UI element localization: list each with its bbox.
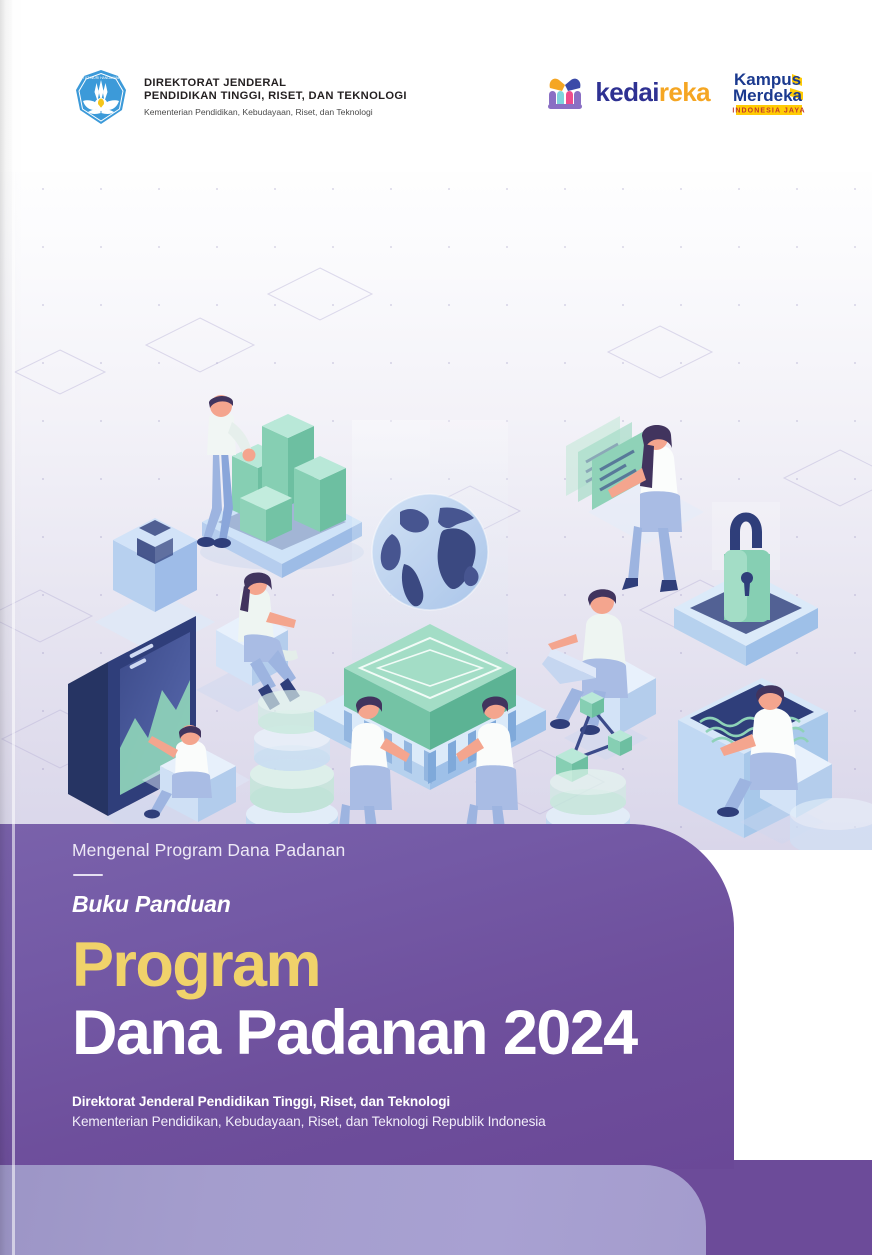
cover-illustration xyxy=(0,150,872,850)
kedaireka-house-icon xyxy=(544,73,586,111)
tut-wuri-motto: TUT WURI HANDAYANI xyxy=(83,76,120,80)
cover-header: TUT WURI HANDAYANI DIREKTORAT JENDERAL P… xyxy=(0,0,872,172)
ministry-line2: PENDIDIKAN TINGGI, RISET, DAN TEKNOLOGI xyxy=(144,90,407,103)
kedaireka-word-part2: reka xyxy=(659,77,710,107)
kedaireka-wordmark: kedaireka xyxy=(595,79,710,105)
ministry-logo-text: DIREKTORAT JENDERAL PENDIDIKAN TINGGI, R… xyxy=(144,77,407,117)
cover-ministry: Kementerian Pendidikan, Kebudayaan, Rise… xyxy=(72,1114,710,1129)
cover-organization: Direktorat Jenderal Pendidikan Tinggi, R… xyxy=(72,1094,710,1109)
illus-isometric-cube xyxy=(95,518,215,654)
bottom-accent-bar xyxy=(0,1165,706,1255)
illus-man-with-laptop xyxy=(542,589,656,760)
kedaireka-logo: kedaireka xyxy=(544,73,710,111)
cover-subtitle: Buku Panduan xyxy=(72,891,710,919)
tut-wuri-handayani-logo: TUT WURI HANDAYANI xyxy=(72,68,130,126)
ministry-line1: DIREKTORAT JENDERAL xyxy=(144,77,407,90)
title-panel: Mengenal Program Dana Padanan Buku Pandu… xyxy=(0,824,734,1169)
cover-title-line1: Program xyxy=(72,933,710,997)
cover-title-line2: Dana Padanan 2024 xyxy=(72,1001,710,1065)
cover-kicker: Mengenal Program Dana Padanan xyxy=(72,840,710,862)
title-divider-rule xyxy=(73,874,103,876)
ministry-line3: Kementerian Pendidikan, Kebudayaan, Rise… xyxy=(144,107,407,117)
illus-padlock xyxy=(674,502,818,666)
kampus-line2: Merdeka xyxy=(733,86,803,105)
kedaireka-word-part1: kedai xyxy=(595,77,659,107)
kampus-merdeka-logo: Kampus Merdeka INDONESIA JAYA xyxy=(732,66,806,118)
illus-cylinder-right xyxy=(790,798,872,850)
kampus-tagline: INDONESIA JAYA xyxy=(732,108,805,115)
partner-logos: kedaireka Kampus Merdeka INDONESIA JAYA xyxy=(544,66,806,118)
illus-bar-chart-blocks xyxy=(197,395,364,578)
book-cover: TUT WURI HANDAYANI DIREKTORAT JENDERAL P… xyxy=(0,0,872,1255)
illus-globe xyxy=(372,494,488,610)
ministry-logo-block: TUT WURI HANDAYANI DIREKTORAT JENDERAL P… xyxy=(72,68,407,126)
